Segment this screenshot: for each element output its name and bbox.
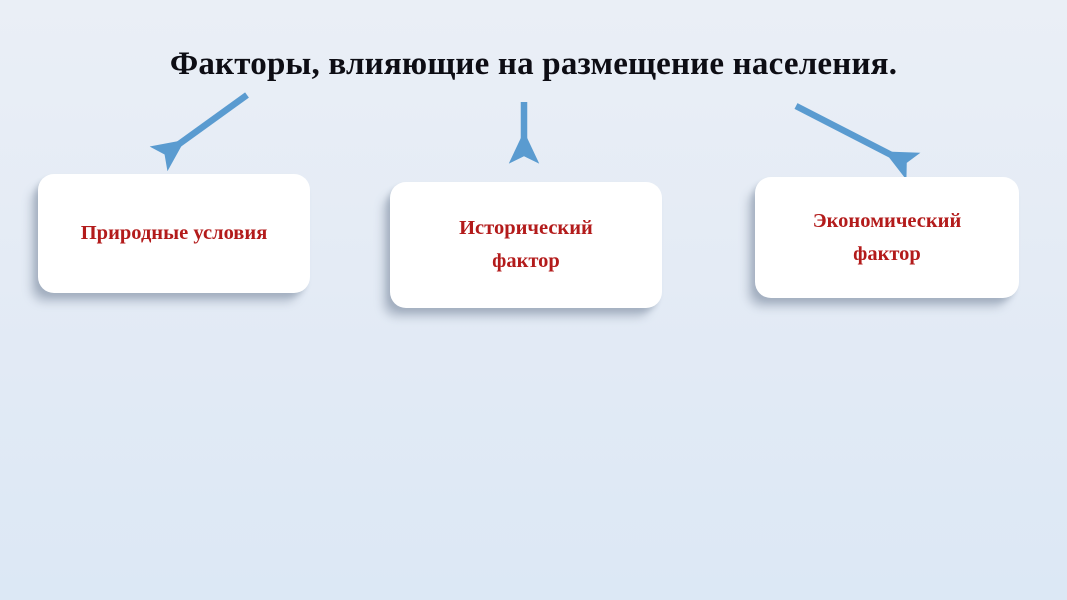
page-title: Факторы, влияющие на размещение населени… bbox=[0, 44, 1067, 84]
arrow-right-icon bbox=[796, 106, 903, 161]
factor-box-label: Исторический фактор bbox=[449, 212, 603, 278]
factor-box-economic-factor[interactable]: Экономический фактор bbox=[755, 177, 1019, 298]
factor-box-natural-conditions[interactable]: Природные условия bbox=[38, 174, 310, 293]
factor-box-historical-factor[interactable]: Исторический фактор bbox=[390, 182, 662, 308]
slide-canvas: Факторы, влияющие на размещение населени… bbox=[0, 0, 1067, 600]
arrow-left-icon bbox=[168, 95, 247, 152]
factor-box-label: Экономический фактор bbox=[803, 205, 972, 271]
factor-box-label: Природные условия bbox=[71, 217, 278, 250]
